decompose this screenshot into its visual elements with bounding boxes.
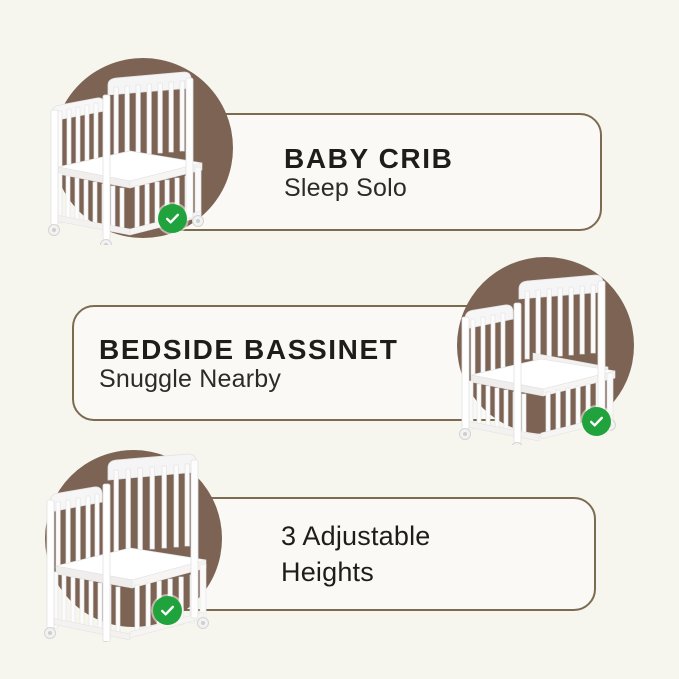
product-disc-bedside-bassinet <box>457 257 634 434</box>
panel-text-adjustable-heights: 3 Adjustable Heights <box>281 512 679 598</box>
check-icon <box>159 602 176 619</box>
check-badge-bedside-bassinet <box>582 407 611 436</box>
panel-subtitle: Sleep Solo <box>284 174 679 204</box>
product-disc-baby-crib <box>53 58 233 238</box>
panel-line-2: Heights <box>281 555 679 591</box>
panel-line-1: 3 Adjustable <box>281 519 679 555</box>
check-badge-adjustable-heights <box>153 596 182 625</box>
check-badge-baby-crib <box>158 204 187 233</box>
check-icon <box>588 413 605 430</box>
check-icon <box>164 210 181 227</box>
infographic-stage: BABY CRIB Sleep Solo <box>0 0 679 679</box>
panel-text-baby-crib: BABY CRIB Sleep Solo <box>284 128 679 218</box>
panel-title: BABY CRIB <box>284 143 679 174</box>
product-disc-adjustable-heights <box>45 450 222 627</box>
